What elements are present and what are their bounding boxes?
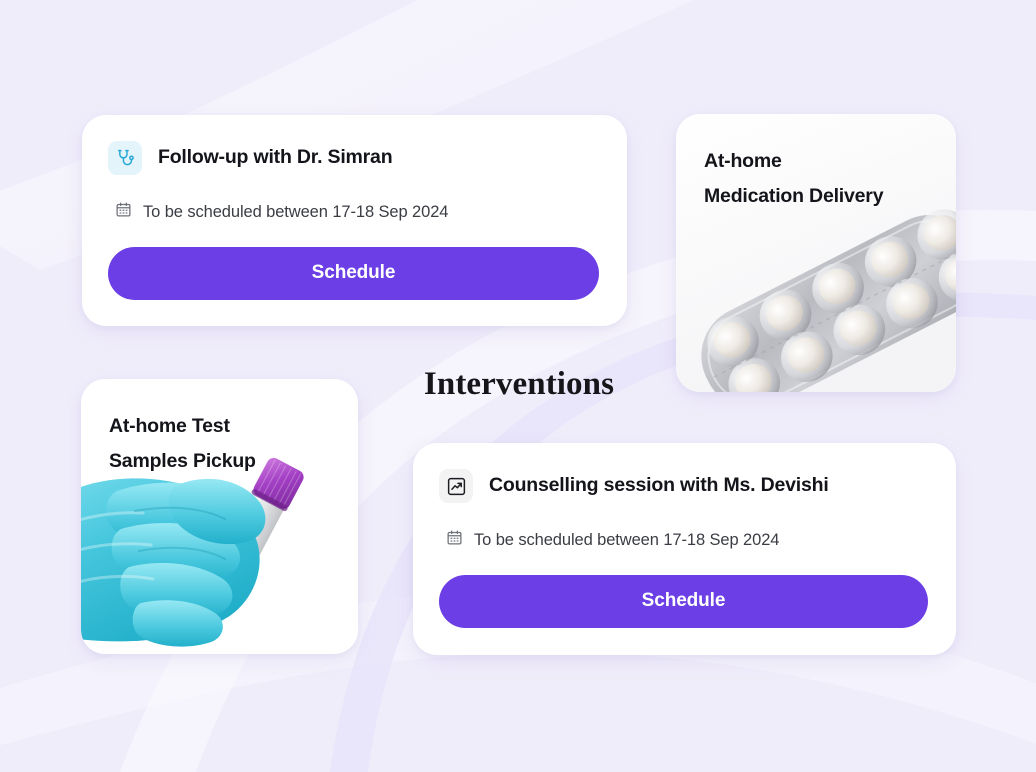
counselling-card-meta: To be scheduled between 17-18 Sep 2024 [439, 529, 928, 551]
test-samples-pickup-card[interactable]: At-home Test Samples Pickup [81, 379, 358, 654]
followup-card-schedule-window: To be scheduled between 17-18 Sep 2024 [143, 203, 448, 222]
counselling-card-schedule-window: To be scheduled between 17-18 Sep 2024 [474, 531, 779, 550]
counselling-schedule-button[interactable]: Schedule [439, 575, 928, 628]
section-heading: Interventions [409, 366, 629, 403]
blister-pack-of-pills-photo [676, 114, 956, 392]
gloved-hand-holding-blood-sample-tube-photo [81, 379, 358, 654]
calendar-icon [446, 529, 463, 551]
counselling-card: Counselling session with Ms. Devishi To … [413, 443, 956, 655]
followup-card-header: Follow-up with Dr. Simran [108, 141, 599, 175]
followup-card-title: Follow-up with Dr. Simran [158, 146, 392, 169]
stethoscope-icon [108, 141, 142, 175]
followup-schedule-button[interactable]: Schedule [108, 247, 599, 300]
counselling-card-header: Counselling session with Ms. Devishi [439, 469, 928, 503]
trending-up-chart-icon [439, 469, 473, 503]
followup-card: Follow-up with Dr. Simran To be schedule… [82, 115, 627, 326]
followup-card-meta: To be scheduled between 17-18 Sep 2024 [108, 201, 599, 223]
medication-delivery-card[interactable]: At-home Medication Delivery [676, 114, 956, 392]
counselling-card-title: Counselling session with Ms. Devishi [489, 474, 829, 497]
calendar-icon [115, 201, 132, 223]
